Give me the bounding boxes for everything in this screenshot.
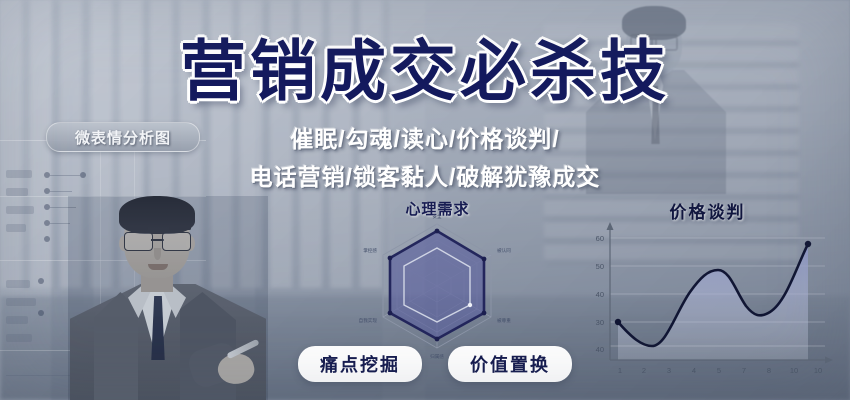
y-tick-label: 60: [596, 234, 604, 243]
line-chart-svg: 60 50 40 30 40 1 2 3 4 5 7 8 10 10: [580, 220, 835, 378]
x-tick-label: 4: [692, 366, 696, 375]
x-tick-label: 10: [814, 366, 822, 375]
radar-axis-label: 自我实现: [359, 317, 378, 324]
x-tick-label: 10: [790, 366, 798, 375]
radar-axis-label: 被认同: [497, 247, 511, 254]
line-chart: 价格谈判 60 50 40 30: [580, 198, 835, 378]
tag-pain-point[interactable]: 痛点挖掘: [298, 346, 422, 382]
presenter-photo: [68, 196, 268, 400]
x-tick-label: 2: [642, 366, 646, 375]
radar-axis-label: 被尊重: [497, 317, 511, 324]
x-tick-label: 1: [618, 366, 622, 375]
y-tick-label: 40: [596, 345, 604, 354]
y-tick-label: 50: [596, 262, 604, 271]
radar-chart-svg: 安全 被认同 被尊重 归属感 自我实现 掌控感: [330, 214, 545, 364]
radar-chart: 心理需求 安: [330, 198, 545, 368]
radar-axis-label: 掌控感: [363, 247, 377, 254]
subtitle-line-2: 电话营销/锁客黏人/破解犹豫成交: [0, 158, 850, 192]
x-tick-label: 7: [742, 366, 746, 375]
y-tick-label: 40: [596, 290, 604, 299]
status-badge: 微表情分析图: [46, 122, 200, 152]
x-tick-label: 5: [717, 366, 721, 375]
x-tick-label: 3: [667, 366, 671, 375]
marketing-course-banner: 营销成交必杀技 催眠/勾魂/读心/价格谈判/ 电话营销/锁客黏人/破解犹豫成交 …: [0, 0, 850, 400]
y-tick-label: 30: [596, 318, 604, 327]
page-title: 营销成交必杀技: [0, 38, 850, 104]
radar-axis-label: 归属感: [430, 353, 444, 360]
x-tick-label: 8: [767, 366, 771, 375]
tag-value-exchange[interactable]: 价值置换: [448, 346, 572, 382]
radar-axis-label: 安全: [432, 214, 442, 220]
